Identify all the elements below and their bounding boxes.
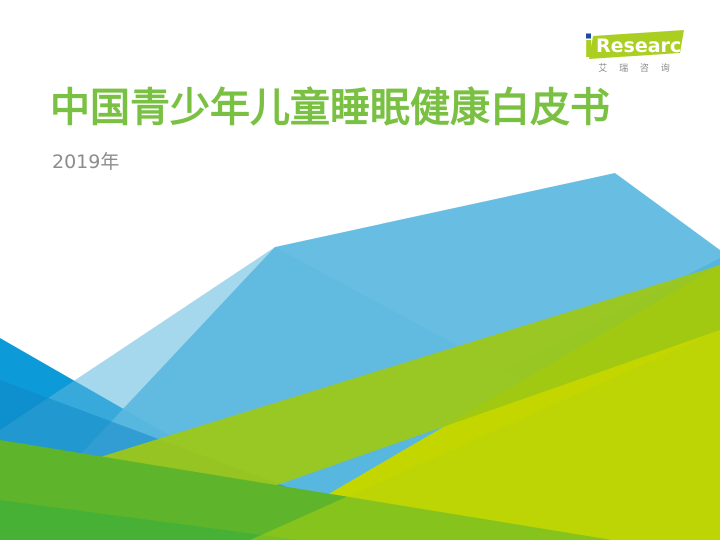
logo-wordmark-icon: Research [584, 30, 684, 60]
shape-blue-light-right [0, 173, 720, 540]
title-block: 中国青少年儿童睡眠健康白皮书 2019年 [50, 84, 610, 174]
shape-blue-dark-left [0, 258, 720, 540]
shape-green-accent-lower [250, 330, 720, 540]
shape-green-light-band [0, 265, 720, 540]
logo-mark: Research [584, 30, 684, 60]
page-subtitle: 2019年 [52, 150, 610, 174]
logo-i-dot [586, 34, 591, 39]
logo-chinese-name: 艾 瑞 咨 询 [584, 63, 684, 75]
shape-green-mid-left [0, 440, 612, 540]
shape-blue-light-left-peak [0, 247, 720, 540]
page-title: 中国青少年儿童睡眠健康白皮书 [50, 84, 610, 132]
presentation-cover-slide: Research 艾 瑞 咨 询 中国青少年儿童睡眠健康白皮书 2019年 [0, 0, 720, 540]
shape-blue-deep-band [0, 380, 430, 540]
logo-i-stem [586, 40, 591, 57]
logo-wordmark-text: Research [596, 35, 684, 57]
abstract-polygon-artwork [0, 0, 720, 540]
shape-green-bright-right [250, 265, 720, 540]
shape-green-olive-overlap [0, 440, 612, 540]
iresearch-logo: Research 艾 瑞 咨 询 [584, 30, 684, 75]
